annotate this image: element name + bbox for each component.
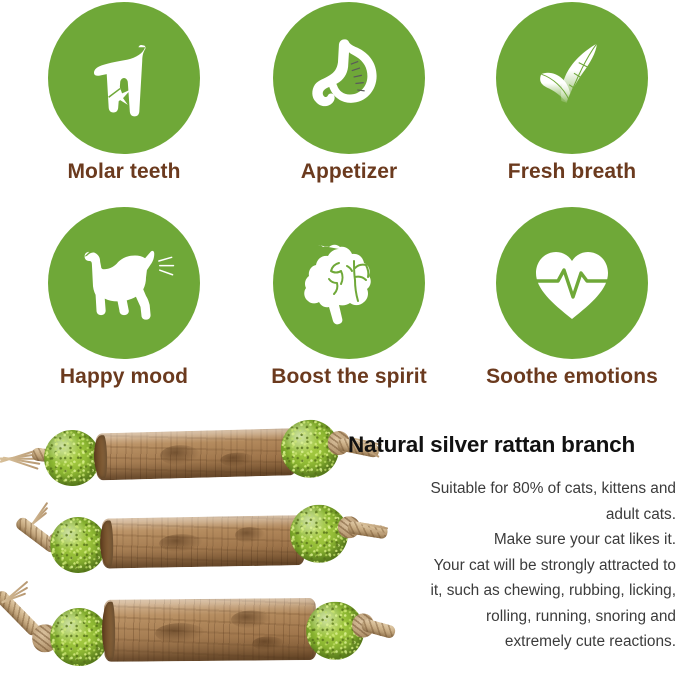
- log-end-cap: [102, 602, 115, 659]
- stomach-icon: [303, 32, 395, 124]
- benefits-grid: Molar teeth Appetizer: [0, 0, 679, 410]
- benefit-item-soothe-emotions: Soothe emotions: [459, 205, 679, 410]
- log-end-cap: [93, 435, 107, 479]
- benefit-circle: [48, 207, 200, 359]
- benefit-item-fresh-breath: Fresh breath: [459, 0, 679, 205]
- description-line: Suitable for 80% of cats, kittens and: [348, 476, 676, 502]
- product-stick-1: [0, 414, 379, 494]
- benefit-item-appetizer: Appetizer: [236, 0, 462, 205]
- rattan-log: [104, 598, 317, 662]
- benefit-circle: [496, 2, 648, 154]
- rope-frizz: [0, 578, 30, 604]
- description-line: rolling, running, snoring and: [348, 604, 676, 630]
- log-end-cap: [100, 520, 114, 566]
- description-line: extremely cute reactions.: [348, 629, 676, 655]
- product-copy: Natural silver rattan branch Suitable fo…: [348, 432, 678, 655]
- matatabi-ball: [50, 608, 109, 667]
- product-description: Suitable for 80% of cats, kittens and ad…: [348, 476, 678, 655]
- benefit-label: Happy mood: [11, 365, 237, 389]
- description-line: it, such as chewing, rubbing, licking,: [348, 578, 676, 604]
- description-line: Make sure your cat likes it.: [348, 527, 676, 553]
- infographic-page: Molar teeth Appetizer: [0, 0, 679, 678]
- product-headline: Natural silver rattan branch: [348, 432, 678, 458]
- benefit-label: Fresh breath: [459, 160, 679, 184]
- cat-icon: [69, 228, 179, 338]
- leaf-icon: [524, 30, 620, 126]
- benefit-label: Molar teeth: [11, 160, 237, 184]
- benefit-label: Soothe emotions: [459, 365, 679, 389]
- matatabi-ball: [43, 429, 100, 486]
- benefit-item-happy-mood: Happy mood: [11, 205, 237, 410]
- brain-icon: [299, 233, 399, 333]
- tooth-icon: [76, 30, 172, 126]
- benefit-circle: [496, 207, 648, 359]
- matatabi-ball: [50, 517, 107, 574]
- benefit-circle: [273, 2, 425, 154]
- description-line: Your cat will be strongly attracted to: [348, 553, 676, 579]
- description-line: adult cats.: [348, 502, 676, 528]
- benefit-label: Boost the spirit: [236, 365, 462, 389]
- benefit-label: Appetizer: [236, 160, 462, 184]
- product-stick-3: [0, 571, 396, 664]
- benefit-circle: [48, 2, 200, 154]
- heart-pulse-icon: [522, 233, 622, 333]
- benefit-item-molar-teeth: Molar teeth: [11, 0, 237, 205]
- rattan-log: [95, 428, 296, 480]
- benefit-circle: [273, 207, 425, 359]
- product-stick-2: [0, 494, 389, 575]
- benefit-item-boost-the-spirit: Boost the spirit: [236, 205, 462, 410]
- rattan-log: [102, 515, 305, 569]
